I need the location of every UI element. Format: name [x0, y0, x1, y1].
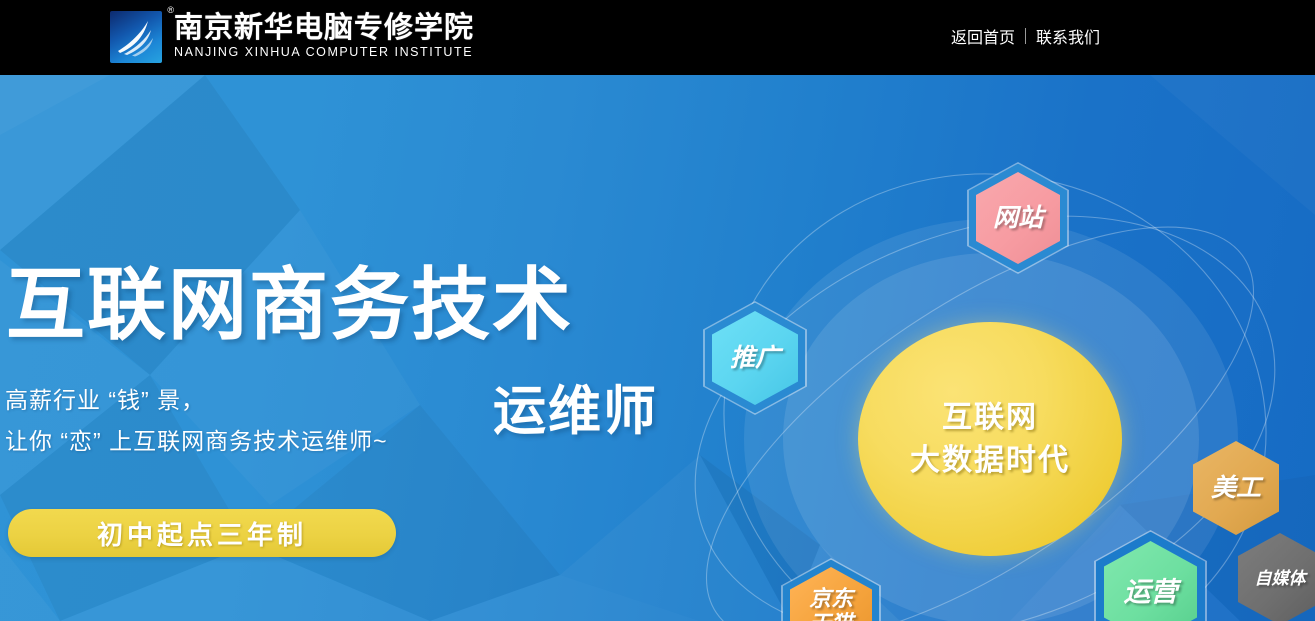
- hex-label-operations: 运营: [1124, 577, 1178, 607]
- logo-english-name: NANJING XINHUA COMPUTER INSTITUTE: [174, 45, 474, 61]
- hero-subtitle-line-1: 高薪行业 “钱” 景，: [5, 380, 388, 421]
- cta-button-label: 初中起点三年制: [97, 515, 307, 552]
- logo-chinese-name: 南京新华电脑专修学院: [174, 13, 474, 44]
- hero-banner: 互联网 大数据时代 网站 推广 美工 运营 自媒体: [0, 75, 1315, 621]
- nav-link-contact[interactable]: 联系我们: [1026, 24, 1110, 48]
- hex-label-jd-tmall: 京东 天猫: [809, 587, 853, 621]
- page-title: 互联网商务技术: [6, 265, 573, 344]
- site-logo[interactable]: ® 南京新华电脑专修学院 NANJING XINHUA COMPUTER INS…: [110, 8, 474, 66]
- banner-page: ® 南京新华电脑专修学院 NANJING XINHUA COMPUTER INS…: [0, 0, 1315, 621]
- top-navigation: 返回首页 联系我们: [941, 24, 1110, 48]
- core-line-1: 互联网: [942, 396, 1038, 440]
- registered-trademark-icon: ®: [167, 6, 174, 15]
- cta-button[interactable]: 初中起点三年制: [8, 509, 396, 557]
- hex-label-design: 美工: [1211, 474, 1261, 502]
- hero-subheadline: 运维师: [493, 385, 658, 438]
- hero-headline-block: 互联网商务技术: [6, 265, 573, 344]
- hex-label-promotion: 推广: [730, 344, 780, 372]
- wave-swoosh-icon: ®: [110, 11, 162, 63]
- hero-subtitle-block: 高薪行业 “钱” 景， 让你 “恋” 上互联网商务技术运维师~: [5, 380, 388, 462]
- nav-link-home[interactable]: 返回首页: [941, 24, 1025, 48]
- hex-label-website: 网站: [993, 204, 1043, 232]
- core-line-2: 大数据时代: [910, 439, 1070, 483]
- hero-subtitle-line-2: 让你 “恋” 上互联网商务技术运维师~: [5, 421, 388, 462]
- hex-label-self-media: 自媒体: [1255, 569, 1306, 588]
- core-circle: 互联网 大数据时代: [858, 322, 1122, 556]
- site-header: ® 南京新华电脑专修学院 NANJING XINHUA COMPUTER INS…: [0, 0, 1315, 75]
